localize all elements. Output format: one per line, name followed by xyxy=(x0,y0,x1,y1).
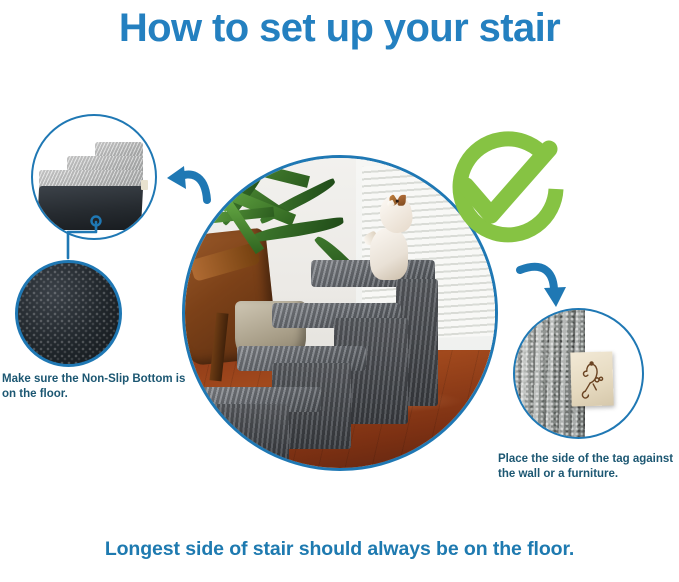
caption-nonslip: Make sure the Non-Slip Bottom is on the … xyxy=(2,372,187,402)
page-title: How to set up your stair xyxy=(0,2,679,54)
dog-body xyxy=(370,228,408,280)
chihuahua-dog xyxy=(359,195,421,282)
inset-upside-down-stair xyxy=(31,114,157,240)
caption-tag-side: Place the side of the tag against the wa… xyxy=(498,452,678,482)
hero-photo-circle xyxy=(182,155,498,471)
inset-nonslip-texture xyxy=(15,260,122,367)
stair-riser-1 xyxy=(205,404,289,461)
infographic-canvas: How to set up your stair xyxy=(0,0,679,582)
upside-down-stair-figure xyxy=(37,142,155,226)
hero-photo-scene xyxy=(185,158,495,468)
ud-nonslip-bottom xyxy=(37,186,143,230)
dog-snout xyxy=(386,200,395,209)
ud-brand-tag xyxy=(141,180,148,190)
inset-tag-against-wall xyxy=(513,308,644,439)
brand-tag-label xyxy=(570,351,613,406)
arrow-right-icon xyxy=(520,267,566,307)
pet-stair xyxy=(197,260,445,465)
footer-note: Longest side of stair should always be o… xyxy=(0,538,679,561)
dog-logo-icon xyxy=(570,351,613,406)
